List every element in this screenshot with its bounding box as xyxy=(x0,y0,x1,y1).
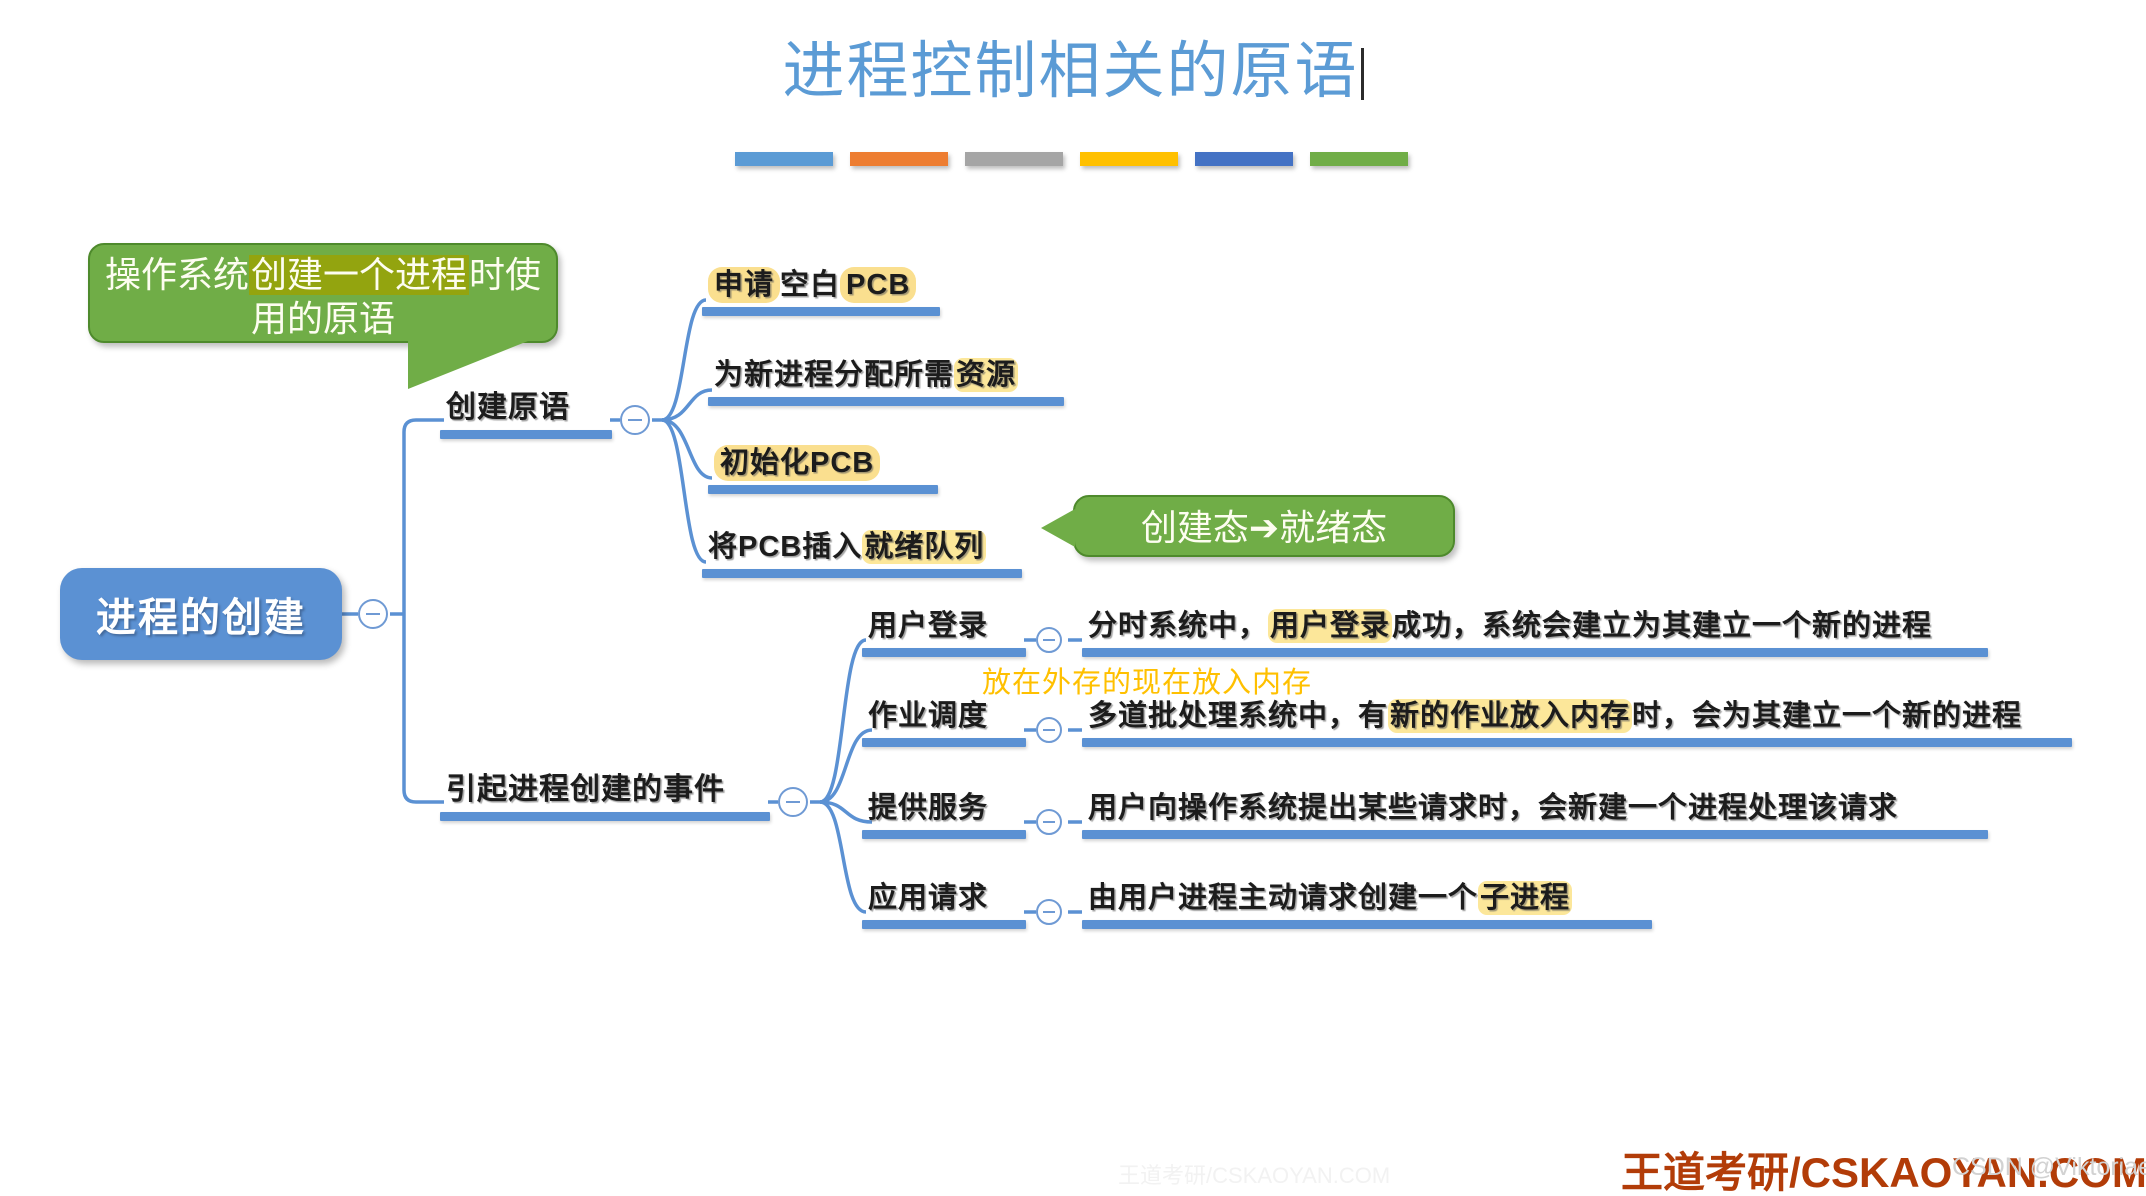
text-cursor xyxy=(1361,48,1364,100)
leaf-node-apply-blank-pcb-label: 申请空白PCB xyxy=(702,261,940,307)
node-underline xyxy=(1082,738,2072,747)
text-prefix: 多道批处理系统中，有 xyxy=(1088,700,1388,732)
text-suffix: 时，会为其建立一个新的进程 xyxy=(1632,700,2022,732)
node-underline xyxy=(862,920,1026,929)
highlight-ready-queue: 就绪队列 xyxy=(862,530,986,564)
accent-chip-3 xyxy=(965,152,1063,166)
highlight-pcb: PCB xyxy=(840,267,916,303)
node-underline xyxy=(862,830,1026,839)
callout-ready-state-text: 创建态➔就绪态 xyxy=(1141,508,1387,548)
leaf-node-initialize-pcb-label: 初始化PCB xyxy=(708,439,938,485)
branch-node-creation-events[interactable]: 引起进程创建的事件 xyxy=(440,764,770,821)
highlight-initialize-pcb: 初始化PCB xyxy=(714,445,880,481)
callout-emphasis: 创建一个进程 xyxy=(249,255,469,295)
branch-node-creation-events-label: 引起进程创建的事件 xyxy=(440,764,770,812)
leaf-node-user-login[interactable]: 用户登录 xyxy=(862,602,1026,657)
text-prefix: 由用户进程主动请求创建一个 xyxy=(1088,882,1478,914)
leaf-node-insert-ready-queue-label: 将PCB插入就绪队列 xyxy=(702,523,1022,569)
highlight-user-login: 用户登录 xyxy=(1268,609,1392,643)
branch-create-primitive-collapse-toggle[interactable] xyxy=(620,405,650,435)
text-prefix: 将PCB插入 xyxy=(708,531,862,563)
leaf-job-scheduling-collapse-toggle[interactable] xyxy=(1036,717,1062,743)
leaf-node-provide-service-label: 提供服务 xyxy=(862,784,1026,830)
leaf-node-application-request[interactable]: 应用请求 xyxy=(862,874,1026,929)
leaf-node-application-request-label: 应用请求 xyxy=(862,874,1026,920)
node-underline xyxy=(702,307,940,316)
branch-node-create-primitive[interactable]: 创建原语 xyxy=(440,382,612,439)
desc-node-application-request-text: 由用户进程主动请求创建一个子进程 xyxy=(1082,874,1652,920)
callout-tail xyxy=(1041,509,1075,547)
callout-create-primitive: 操作系统创建一个进程时使用的原语 xyxy=(88,243,558,343)
page-title: 进程控制相关的原语 xyxy=(0,36,2146,108)
root-node-process-creation[interactable]: 进程的创建 xyxy=(60,568,342,660)
leaf-node-insert-ready-queue[interactable]: 将PCB插入就绪队列 xyxy=(702,523,1022,578)
watermark-csdn-author: CSDN @Viktoriae xyxy=(1952,1153,2146,1182)
callout-ready-state: 创建态➔就绪态 xyxy=(1073,495,1455,557)
node-underline xyxy=(862,738,1026,747)
desc-node-user-login-text: 分时系统中，用户登录成功，系统会建立为其建立一个新的进程 xyxy=(1082,602,1988,648)
leaf-node-apply-blank-pcb[interactable]: 申请空白PCB xyxy=(702,261,940,316)
leaf-node-user-login-label: 用户登录 xyxy=(862,602,1026,648)
page-title-text: 进程控制相关的原语 xyxy=(782,38,1358,106)
node-underline xyxy=(702,569,1022,578)
accent-chip-5 xyxy=(1195,152,1293,166)
mindmap-canvas: 进程控制相关的原语 xyxy=(0,0,2146,1196)
accent-chip-6 xyxy=(1310,152,1408,166)
text-blank: 空白 xyxy=(780,269,840,301)
branch-node-create-primitive-label: 创建原语 xyxy=(440,382,612,430)
node-underline xyxy=(440,812,770,821)
node-underline xyxy=(708,485,938,494)
highlight-new-job-memory: 新的作业放入内存 xyxy=(1388,699,1632,733)
accent-chip-1 xyxy=(735,152,833,166)
root-node-label: 进程的创建 xyxy=(96,585,306,643)
node-underline xyxy=(440,430,612,439)
leaf-node-allocate-resources[interactable]: 为新进程分配所需资源 xyxy=(708,351,1064,406)
accent-color-bar xyxy=(735,152,1408,166)
node-underline xyxy=(1082,830,1988,839)
annotation-memory-note: 放在外存的现在放入内存 xyxy=(982,659,1312,701)
leaf-node-provide-service[interactable]: 提供服务 xyxy=(862,784,1026,839)
leaf-provide-service-collapse-toggle[interactable] xyxy=(1036,809,1062,835)
text-prefix: 为新进程分配所需 xyxy=(714,359,954,391)
highlight-resource: 资源 xyxy=(954,358,1018,392)
accent-chip-2 xyxy=(850,152,948,166)
highlight-apply: 申请 xyxy=(708,267,780,303)
leaf-node-initialize-pcb[interactable]: 初始化PCB xyxy=(708,439,938,494)
branch-creation-events-collapse-toggle[interactable] xyxy=(778,787,808,817)
node-underline xyxy=(1082,648,1988,657)
leaf-user-login-collapse-toggle[interactable] xyxy=(1036,627,1062,653)
callout-tail xyxy=(408,341,528,389)
node-underline xyxy=(1082,920,1652,929)
desc-node-application-request[interactable]: 由用户进程主动请求创建一个子进程 xyxy=(1082,874,1652,929)
node-underline xyxy=(862,648,1026,657)
text-prefix: 操作系统 xyxy=(105,255,249,295)
text-prefix: 分时系统中， xyxy=(1088,610,1268,642)
root-collapse-toggle[interactable] xyxy=(358,599,388,629)
desc-node-user-login[interactable]: 分时系统中，用户登录成功，系统会建立为其建立一个新的进程 xyxy=(1082,602,1988,657)
callout-create-primitive-text: 操作系统创建一个进程时使用的原语 xyxy=(105,255,541,339)
watermark-faint: 王道考研/CSKAOYAN.COM xyxy=(1118,1158,1390,1190)
desc-node-provide-service[interactable]: 用户向操作系统提出某些请求时，会新建一个进程处理该请求 xyxy=(1082,784,1988,839)
leaf-node-allocate-resources-label: 为新进程分配所需资源 xyxy=(708,351,1064,397)
node-underline xyxy=(708,397,1064,406)
desc-node-provide-service-text: 用户向操作系统提出某些请求时，会新建一个进程处理该请求 xyxy=(1082,784,1988,830)
leaf-application-request-collapse-toggle[interactable] xyxy=(1036,899,1062,925)
text-suffix: 成功，系统会建立为其建立一个新的进程 xyxy=(1392,610,1932,642)
accent-chip-4 xyxy=(1080,152,1178,166)
highlight-child-process: 子进程 xyxy=(1478,881,1572,915)
